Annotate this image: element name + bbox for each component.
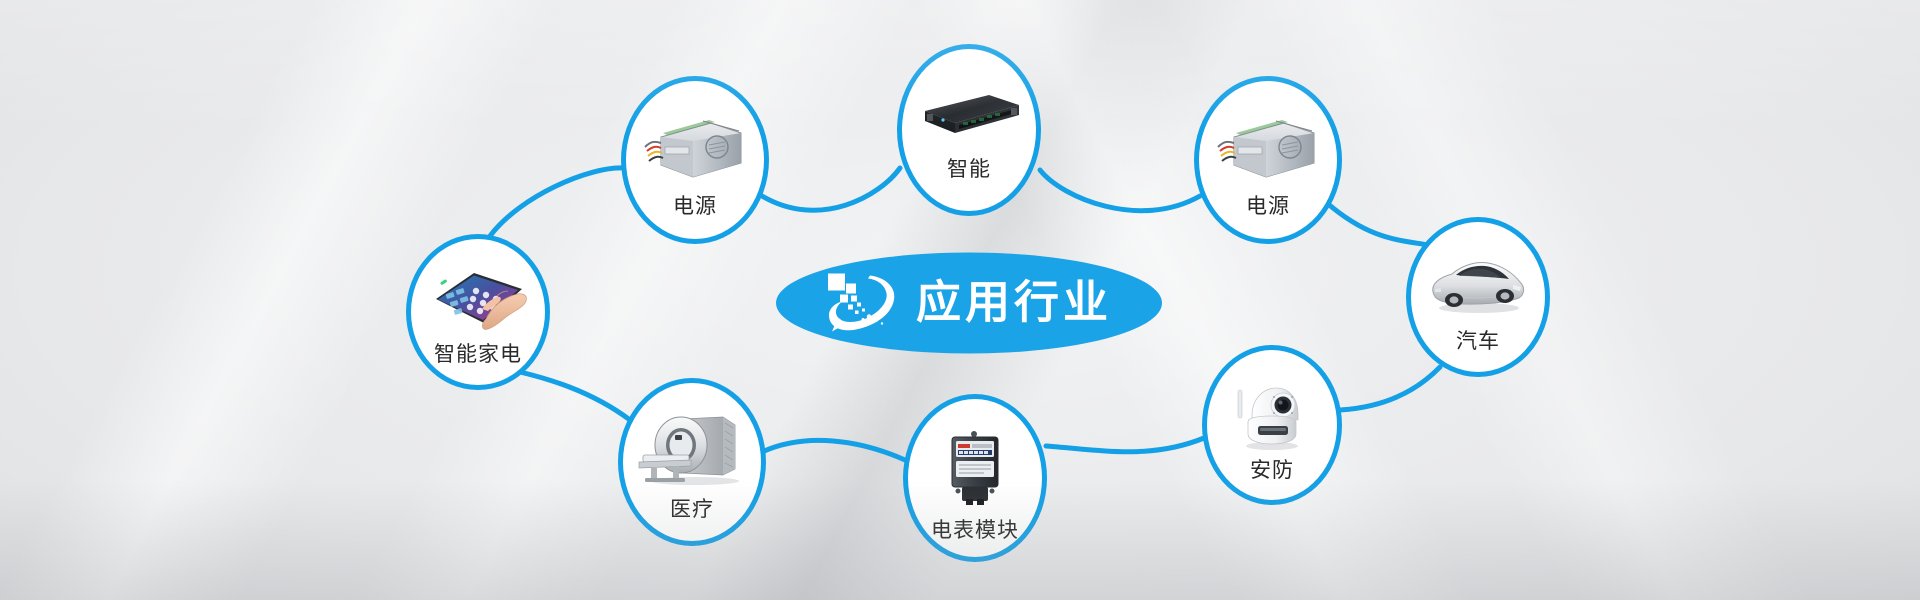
node-label: 电表模块 xyxy=(931,520,1019,541)
link-security-to-meter xyxy=(1046,438,1204,452)
node-label: 汽车 xyxy=(1456,331,1500,352)
atx-power-supply-icon xyxy=(643,111,747,185)
node-security[interactable]: 安防 xyxy=(1202,345,1342,505)
node-power-right[interactable]: 电源 xyxy=(1194,76,1342,244)
node-smart[interactable]: 智能 xyxy=(897,44,1041,216)
link-power-left-to-smart xyxy=(762,168,900,210)
ip-camera-icon xyxy=(1228,376,1316,450)
node-meter-module[interactable]: 电表模块 xyxy=(903,394,1047,562)
link-meter-to-medical xyxy=(762,440,905,460)
node-label: 安防 xyxy=(1250,460,1294,481)
orbit-swoosh-pixels-icon xyxy=(826,269,900,337)
electric-meter-icon xyxy=(944,429,1006,509)
node-power-left[interactable]: 电源 xyxy=(621,76,769,244)
tablet-touch-hand-icon xyxy=(426,265,530,335)
rack-server-icon xyxy=(915,89,1023,141)
link-smart-home-to-power-left xyxy=(490,168,624,236)
node-label: 电源 xyxy=(1246,196,1290,217)
node-medical[interactable]: 医疗 xyxy=(618,378,766,546)
node-label: 智能 xyxy=(947,159,991,180)
mri-scanner-icon xyxy=(637,411,747,487)
node-label: 智能家电 xyxy=(434,344,522,365)
sports-car-icon xyxy=(1425,252,1531,318)
node-automotive[interactable]: 汽车 xyxy=(1406,217,1550,377)
link-smart-to-power-right xyxy=(1040,170,1200,211)
node-smart-home[interactable]: 智能家电 xyxy=(406,234,550,390)
center-title: 应用行业 xyxy=(916,279,1112,327)
node-label: 电源 xyxy=(673,196,717,217)
node-label: 医疗 xyxy=(670,499,714,520)
center-badge[interactable]: 应用行业 xyxy=(776,253,1162,354)
atx-power-supply-icon xyxy=(1216,111,1320,185)
application-industries-banner: 电源 xyxy=(0,0,1920,600)
